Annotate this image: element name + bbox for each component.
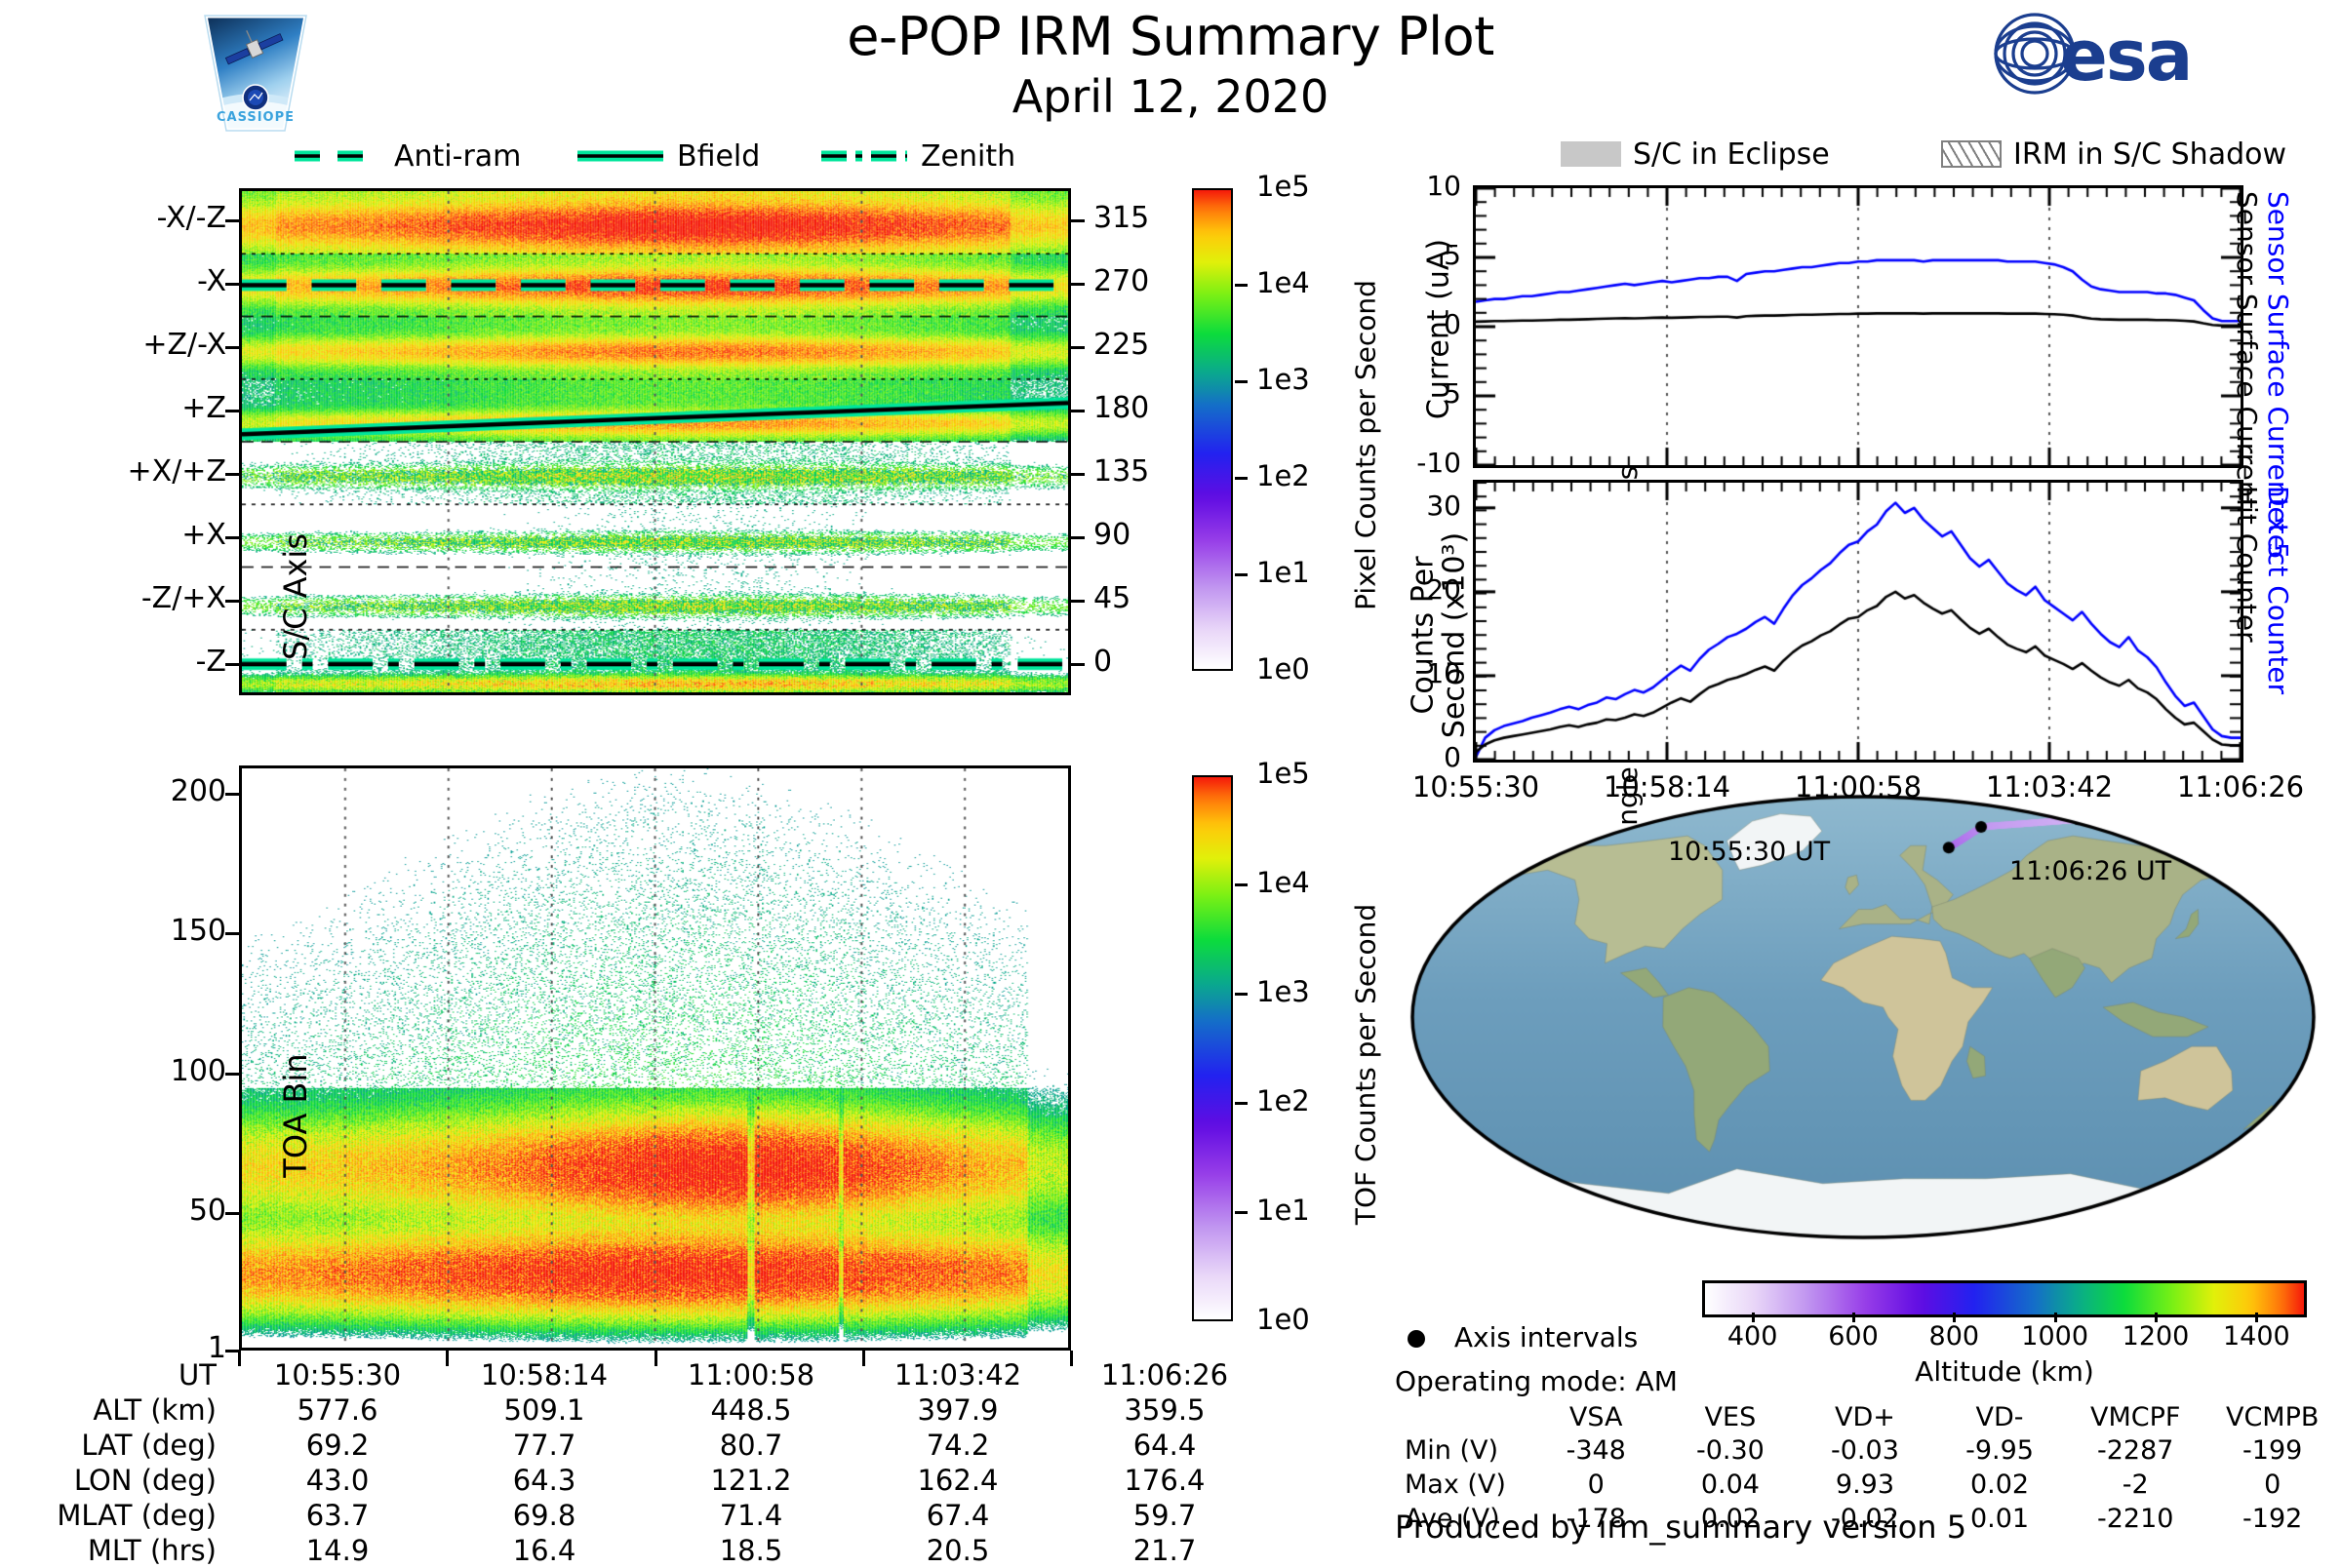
table-row: ALT (km)577.6509.1448.5397.9359.5 <box>29 1392 1268 1428</box>
map-start-time-label: 10:55:30 UT <box>1668 837 1830 867</box>
info-cell: 21.7 <box>1061 1533 1268 1568</box>
table-row: Min (V)-348-0.30-0.03-9.95-2287-199 <box>1405 1433 2341 1468</box>
ytick-label: 5 <box>1383 239 1461 271</box>
legend-label-sc-eclipse: S/C in Eclipse <box>1633 137 1830 172</box>
colorbar-tick-4: 1e1 <box>1256 556 1310 589</box>
toa-bin-spectrogram-canvas <box>239 765 1071 1351</box>
sc-axis-spectrogram-canvas <box>239 188 1071 695</box>
info-cell: 67.4 <box>854 1498 1061 1533</box>
info-cell: 59.7 <box>1061 1498 1268 1533</box>
counts-right-label-black: Hit Counter <box>2231 486 2263 643</box>
angle-ytick-2: 225 <box>1093 328 1149 362</box>
info-cell: 18.5 <box>648 1533 854 1568</box>
info-cell: 11:06:26 <box>1061 1357 1268 1392</box>
angle-ytick-mark-6 <box>1071 600 1085 603</box>
toa-ytick-1: 150 <box>171 914 226 948</box>
voltage-cell: -348 <box>1529 1433 1663 1468</box>
voltage-cell: 0.04 <box>1663 1468 1798 1502</box>
altitude-tick-4: 1200 <box>2117 1321 2195 1352</box>
info-cell: 64.4 <box>1061 1428 1268 1463</box>
sc-axis-ytick-2: +Z/-X <box>142 328 226 362</box>
info-cell: 69.2 <box>234 1428 441 1463</box>
sc-axis-ytick-mark-5 <box>225 536 239 539</box>
counts-plot-canvas <box>1476 483 2241 760</box>
voltage-cell: -192 <box>2203 1502 2341 1536</box>
ytick-label: 10 <box>1383 170 1461 202</box>
info-cell: 509.1 <box>441 1392 648 1428</box>
info-row-label: ALT (km) <box>29 1392 234 1428</box>
table-row: Max (V)00.049.930.02-20 <box>1405 1468 2341 1502</box>
colorbar-tick-mark-1 <box>1235 284 1248 287</box>
info-row-label: MLT (hrs) <box>29 1533 234 1568</box>
ytick-label: -5 <box>1383 377 1461 410</box>
sc-axis-ytick-5: +X <box>181 518 226 552</box>
current-right-label-black: Sensor Surface Current <box>2231 191 2263 509</box>
info-cell: 71.4 <box>648 1498 854 1533</box>
legend-label-zenith: Zenith <box>921 139 1015 174</box>
colorbar-tick-2: 1e3 <box>1256 363 1310 396</box>
legend-item-zenith: Zenith <box>819 138 1015 174</box>
sc-axis-ytick-0: -X/-Z <box>157 201 226 235</box>
colorbar-tick-5: 1e0 <box>1256 652 1310 686</box>
info-cell: 20.5 <box>854 1533 1061 1568</box>
esa-agency-logo: esa <box>1990 10 2263 98</box>
voltage-cell: 0 <box>1529 1468 1663 1502</box>
altitude-tick-2: 800 <box>1915 1321 1993 1352</box>
altitude-tick-3: 1000 <box>2016 1321 2094 1352</box>
info-row-label: UT <box>29 1357 234 1392</box>
colorbar-tick-0: 1e5 <box>1256 757 1310 790</box>
voltage-cell: 0.02 <box>1932 1468 2067 1502</box>
legend-item-irm-shadow: IRM in S/C Shadow <box>1941 137 2286 172</box>
legend-label-bfield: Bfield <box>677 139 760 174</box>
legend-label-anti-ram: Anti-ram <box>394 139 521 174</box>
altitude-tick-mark-3 <box>2054 1313 2057 1322</box>
info-cell: 577.6 <box>234 1392 441 1428</box>
sc-axis-ytick-3: +Z <box>181 391 226 425</box>
toa-ytick-3: 50 <box>189 1194 226 1228</box>
sc-axis-ylabel: S/C Axis <box>277 490 314 704</box>
sc-axis-ytick-mark-3 <box>225 410 239 412</box>
ytick-label: 0 <box>1383 308 1461 340</box>
ground-track-map: 10:55:30 UT 11:06:26 UT <box>1405 775 2321 1243</box>
angle-ytick-1: 270 <box>1093 264 1149 298</box>
toa-ytick-mark-0 <box>225 793 239 796</box>
footer-produced-by: Produced by irm_summary version 5 <box>1395 1509 1966 1546</box>
info-cell: 11:03:42 <box>854 1357 1061 1392</box>
colorbar-tick-mark-2 <box>1235 993 1248 996</box>
angle-ytick-0: 315 <box>1093 201 1149 235</box>
info-cell: 11:00:58 <box>648 1357 854 1392</box>
voltage-row-label: Max (V) <box>1405 1468 1529 1502</box>
altitude-tick-mark-0 <box>1752 1313 1755 1322</box>
info-row-label: LON (deg) <box>29 1463 234 1498</box>
info-row-label: LAT (deg) <box>29 1428 234 1463</box>
voltage-col-header: VES <box>1663 1401 1798 1433</box>
angle-ytick-mark-7 <box>1071 663 1085 666</box>
voltage-cell: -2 <box>2067 1468 2203 1502</box>
operating-mode-label: Operating mode: AM <box>1395 1365 1678 1397</box>
ytick-label: 10 <box>1383 657 1461 689</box>
sc-axis-ytick-mark-1 <box>225 283 239 286</box>
info-cell: 43.0 <box>234 1463 441 1498</box>
voltage-cell: -2287 <box>2067 1433 2203 1468</box>
toa-ytick-mark-3 <box>225 1212 239 1215</box>
shadow-hatch-swatch-icon <box>1941 140 2002 168</box>
altitude-tick-5: 1400 <box>2217 1321 2295 1352</box>
colorbar-tick-mark-2 <box>1235 380 1248 383</box>
colorbar-tick-mark-4 <box>1235 573 1248 576</box>
voltage-cell: -199 <box>2203 1433 2341 1468</box>
angle-ytick-7: 0 <box>1093 645 1112 679</box>
legend-item-anti-ram: Anti-ram <box>293 138 521 174</box>
pixel-counts-colorbar-label: Pixel Counts per Second <box>1350 236 1382 655</box>
colorbar-tick-1: 1e4 <box>1256 866 1310 899</box>
info-cell: 80.7 <box>648 1428 854 1463</box>
info-cell: 64.3 <box>441 1463 648 1498</box>
info-cell: 16.4 <box>441 1533 648 1568</box>
axis-intervals-legend: Axis intervals <box>1405 1321 1638 1353</box>
colorbar-tick-1: 1e4 <box>1256 266 1310 299</box>
tof-counts-colorbar-label: TOF Counts per Second <box>1350 850 1382 1279</box>
angle-ytick-mark-3 <box>1071 410 1085 412</box>
altitude-tick-mark-1 <box>1852 1313 1855 1322</box>
voltage-col-header: VSA <box>1529 1401 1663 1433</box>
angle-ytick-4: 135 <box>1093 454 1149 489</box>
table-row: MLT (hrs)14.916.418.520.521.7 <box>29 1533 1268 1568</box>
voltage-cell: -0.03 <box>1798 1433 1932 1468</box>
colorbar-tick-2: 1e3 <box>1256 975 1310 1008</box>
info-cell: 63.7 <box>234 1498 441 1533</box>
legend-item-sc-eclipse: S/C in Eclipse <box>1561 137 1830 172</box>
voltage-col-header: VD+ <box>1798 1401 1932 1433</box>
toa-ytick-mark-1 <box>225 932 239 935</box>
info-cell: 69.8 <box>441 1498 648 1533</box>
legend-item-bfield: Bfield <box>575 138 760 174</box>
table-row: MLAT (deg)63.769.871.467.459.7 <box>29 1498 1268 1533</box>
altitude-colorbar-label: Altitude (km) <box>1702 1355 2307 1388</box>
counts-plot-panel <box>1473 480 2243 763</box>
info-cell: 14.9 <box>234 1533 441 1568</box>
axis-intervals-label: Axis intervals <box>1454 1321 1638 1353</box>
angle-ytick-mark-4 <box>1071 473 1085 476</box>
ytick-label: -10 <box>1383 447 1461 479</box>
orbit-info-table: UT10:55:3010:58:1411:00:5811:03:4211:06:… <box>29 1357 1268 1568</box>
sc-axis-ytick-6: -Z/+X <box>141 581 226 615</box>
tof-counts-colorbar <box>1192 775 1233 1321</box>
voltage-cell: 9.93 <box>1798 1468 1932 1502</box>
ytick-label: 0 <box>1383 741 1461 773</box>
info-cell: 448.5 <box>648 1392 854 1428</box>
angle-ytick-5: 90 <box>1093 518 1131 552</box>
toa-bin-spectrogram-panel: TOA Bin 200150100501 <box>239 765 1071 1351</box>
svg-text:CASSIOPE: CASSIOPE <box>217 110 295 125</box>
sc-axis-ytick-mark-6 <box>225 600 239 603</box>
colorbar-tick-3: 1e2 <box>1256 459 1310 492</box>
toa-ytick-0: 200 <box>171 774 226 808</box>
altitude-tick-mark-2 <box>1953 1313 1956 1322</box>
world-map-canvas <box>1405 775 2321 1243</box>
info-cell: 74.2 <box>854 1428 1061 1463</box>
colorbar-tick-mark-3 <box>1235 477 1248 480</box>
angle-ytick-mark-5 <box>1071 536 1085 539</box>
info-cell: 10:58:14 <box>441 1357 648 1392</box>
colorbar-tick-4: 1e1 <box>1256 1194 1310 1227</box>
info-row-label: MLAT (deg) <box>29 1498 234 1533</box>
table-row: LON (deg)43.064.3121.2162.4176.4 <box>29 1463 1268 1498</box>
voltage-col-header: VMCPF <box>2067 1401 2203 1433</box>
map-end-time-label: 11:06:26 UT <box>2009 856 2171 886</box>
ytick-label: 20 <box>1383 573 1461 606</box>
sc-axis-ytick-1: -X <box>197 264 226 298</box>
voltage-col-header: VD- <box>1932 1401 2067 1433</box>
altitude-tick-0: 400 <box>1714 1321 1792 1352</box>
info-cell: 162.4 <box>854 1463 1061 1498</box>
toa-ytick-2: 100 <box>171 1054 226 1088</box>
info-cell: 176.4 <box>1061 1463 1268 1498</box>
info-cell: 397.9 <box>854 1392 1061 1428</box>
spectrogram-legend: Anti-ram Bfield Zenith <box>293 138 1014 174</box>
info-cell: 10:55:30 <box>234 1357 441 1392</box>
sc-axis-spectrogram-panel: S/C Axis Angle from -Z axis (towards +X … <box>239 188 1071 695</box>
toa-ytick-mark-4 <box>225 1350 239 1352</box>
info-cell: 359.5 <box>1061 1392 1268 1428</box>
current-plot-panel <box>1473 185 2243 468</box>
voltage-cell: 0 <box>2203 1468 2341 1502</box>
colorbar-tick-0: 1e5 <box>1256 170 1310 203</box>
eclipse-legend: S/C in Eclipse IRM in S/C Shadow <box>1561 137 2302 174</box>
counts-right-label-blue: Detect Counter <box>2262 486 2294 694</box>
voltage-cell: -0.30 <box>1663 1433 1798 1468</box>
voltage-corner <box>1405 1401 1529 1433</box>
current-plot-canvas <box>1476 188 2241 465</box>
altitude-tick-mark-5 <box>2255 1313 2258 1322</box>
cassiope-mission-logo: CASSIOPE <box>178 8 334 144</box>
anti-ram-line-icon <box>293 148 382 164</box>
altitude-colorbar <box>1702 1280 2307 1317</box>
voltage-cell: -9.95 <box>1932 1433 2067 1468</box>
angle-ytick-mark-2 <box>1071 346 1085 349</box>
sc-axis-ytick-7: -Z <box>196 645 226 679</box>
zenith-line-icon <box>819 148 909 164</box>
colorbar-tick-mark-4 <box>1235 1211 1248 1214</box>
altitude-tick-1: 600 <box>1814 1321 1892 1352</box>
colorbar-tick-mark-3 <box>1235 1102 1248 1105</box>
voltage-col-header: VCMPB <box>2203 1401 2341 1433</box>
table-row: UT10:55:3010:58:1411:00:5811:03:4211:06:… <box>29 1357 1268 1392</box>
info-cell: 77.7 <box>441 1428 648 1463</box>
colorbar-tick-3: 1e2 <box>1256 1084 1310 1117</box>
eclipse-swatch-icon <box>1561 141 1621 167</box>
bfield-line-icon <box>575 148 665 164</box>
sc-axis-ytick-mark-2 <box>225 346 239 349</box>
toa-bin-ylabel: TOA Bin <box>277 1018 314 1213</box>
table-row: LAT (deg)69.277.780.774.264.4 <box>29 1428 1268 1463</box>
ytick-label: 30 <box>1383 490 1461 522</box>
toa-ytick-mark-2 <box>225 1073 239 1076</box>
angle-ytick-3: 180 <box>1093 391 1149 425</box>
sc-axis-ytick-mark-7 <box>225 663 239 666</box>
angle-ytick-6: 45 <box>1093 581 1131 615</box>
angle-ytick-mark-0 <box>1071 219 1085 222</box>
sc-axis-ytick-mark-4 <box>225 473 239 476</box>
voltage-cell: -2210 <box>2067 1502 2203 1536</box>
sc-axis-ytick-4: +X/+Z <box>128 454 226 489</box>
svg-text:esa: esa <box>2060 15 2191 97</box>
pixel-counts-colorbar <box>1192 188 1233 671</box>
sc-axis-ytick-mark-0 <box>225 219 239 222</box>
altitude-tick-mark-4 <box>2155 1313 2158 1322</box>
colorbar-tick-5: 1e0 <box>1256 1303 1310 1336</box>
angle-ytick-mark-1 <box>1071 283 1085 286</box>
axis-interval-dot-icon <box>1405 1326 1430 1352</box>
legend-label-irm-shadow: IRM in S/C Shadow <box>2013 137 2286 172</box>
colorbar-tick-mark-1 <box>1235 883 1248 886</box>
info-cell: 121.2 <box>648 1463 854 1498</box>
voltage-row-label: Min (V) <box>1405 1433 1529 1468</box>
